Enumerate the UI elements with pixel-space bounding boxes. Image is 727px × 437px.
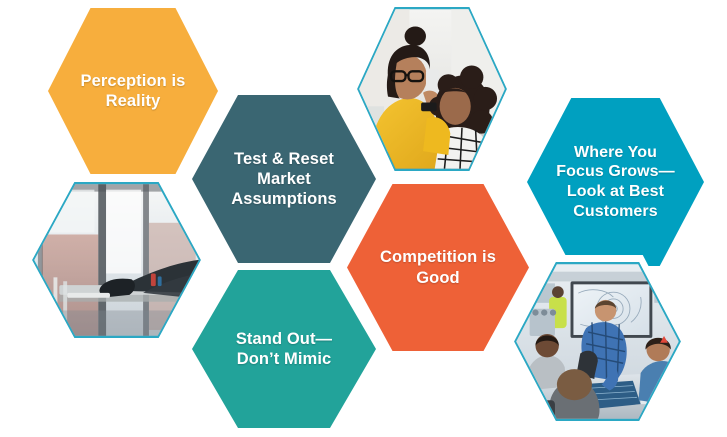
hex-label-where-you-focus-grows: Where You Focus Grows— Look at Best Cust… <box>545 143 687 221</box>
hex-label-competition-is-good: Competition is Good <box>371 247 506 287</box>
hex-label-stand-out-dont-mimic: Stand Out— Don’t Mimic <box>212 329 356 369</box>
hex-label-test-and-reset-market-assumptions: Test & Reset Market Assumptions <box>216 149 352 209</box>
hexagon-infographic-canvas: Perception is Reality Test & Reset Marke… <box>0 0 727 437</box>
hex-label-perception-is-reality: Perception is Reality <box>70 71 196 111</box>
